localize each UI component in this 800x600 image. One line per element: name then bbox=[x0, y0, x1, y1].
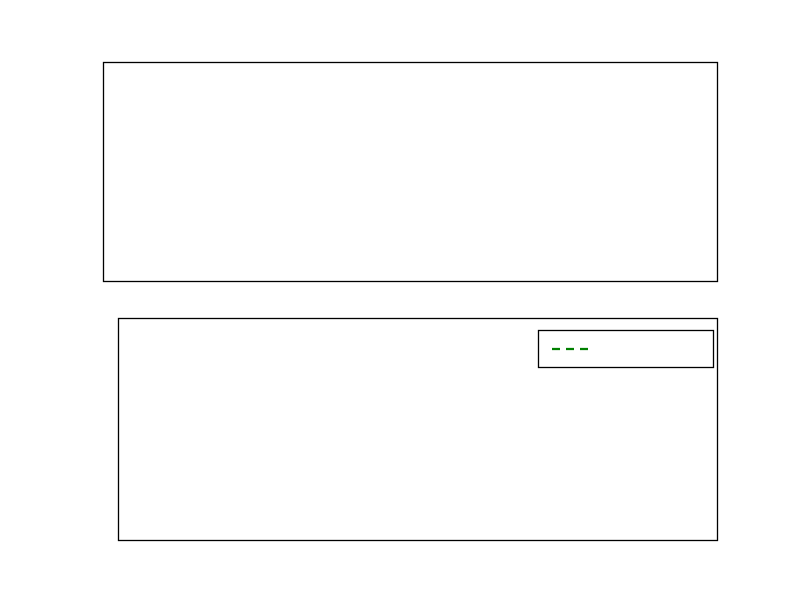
figure-background bbox=[0, 0, 800, 600]
matplotlib-figure bbox=[0, 0, 800, 600]
legend[interactable] bbox=[539, 331, 714, 368]
legend-box bbox=[539, 331, 714, 368]
